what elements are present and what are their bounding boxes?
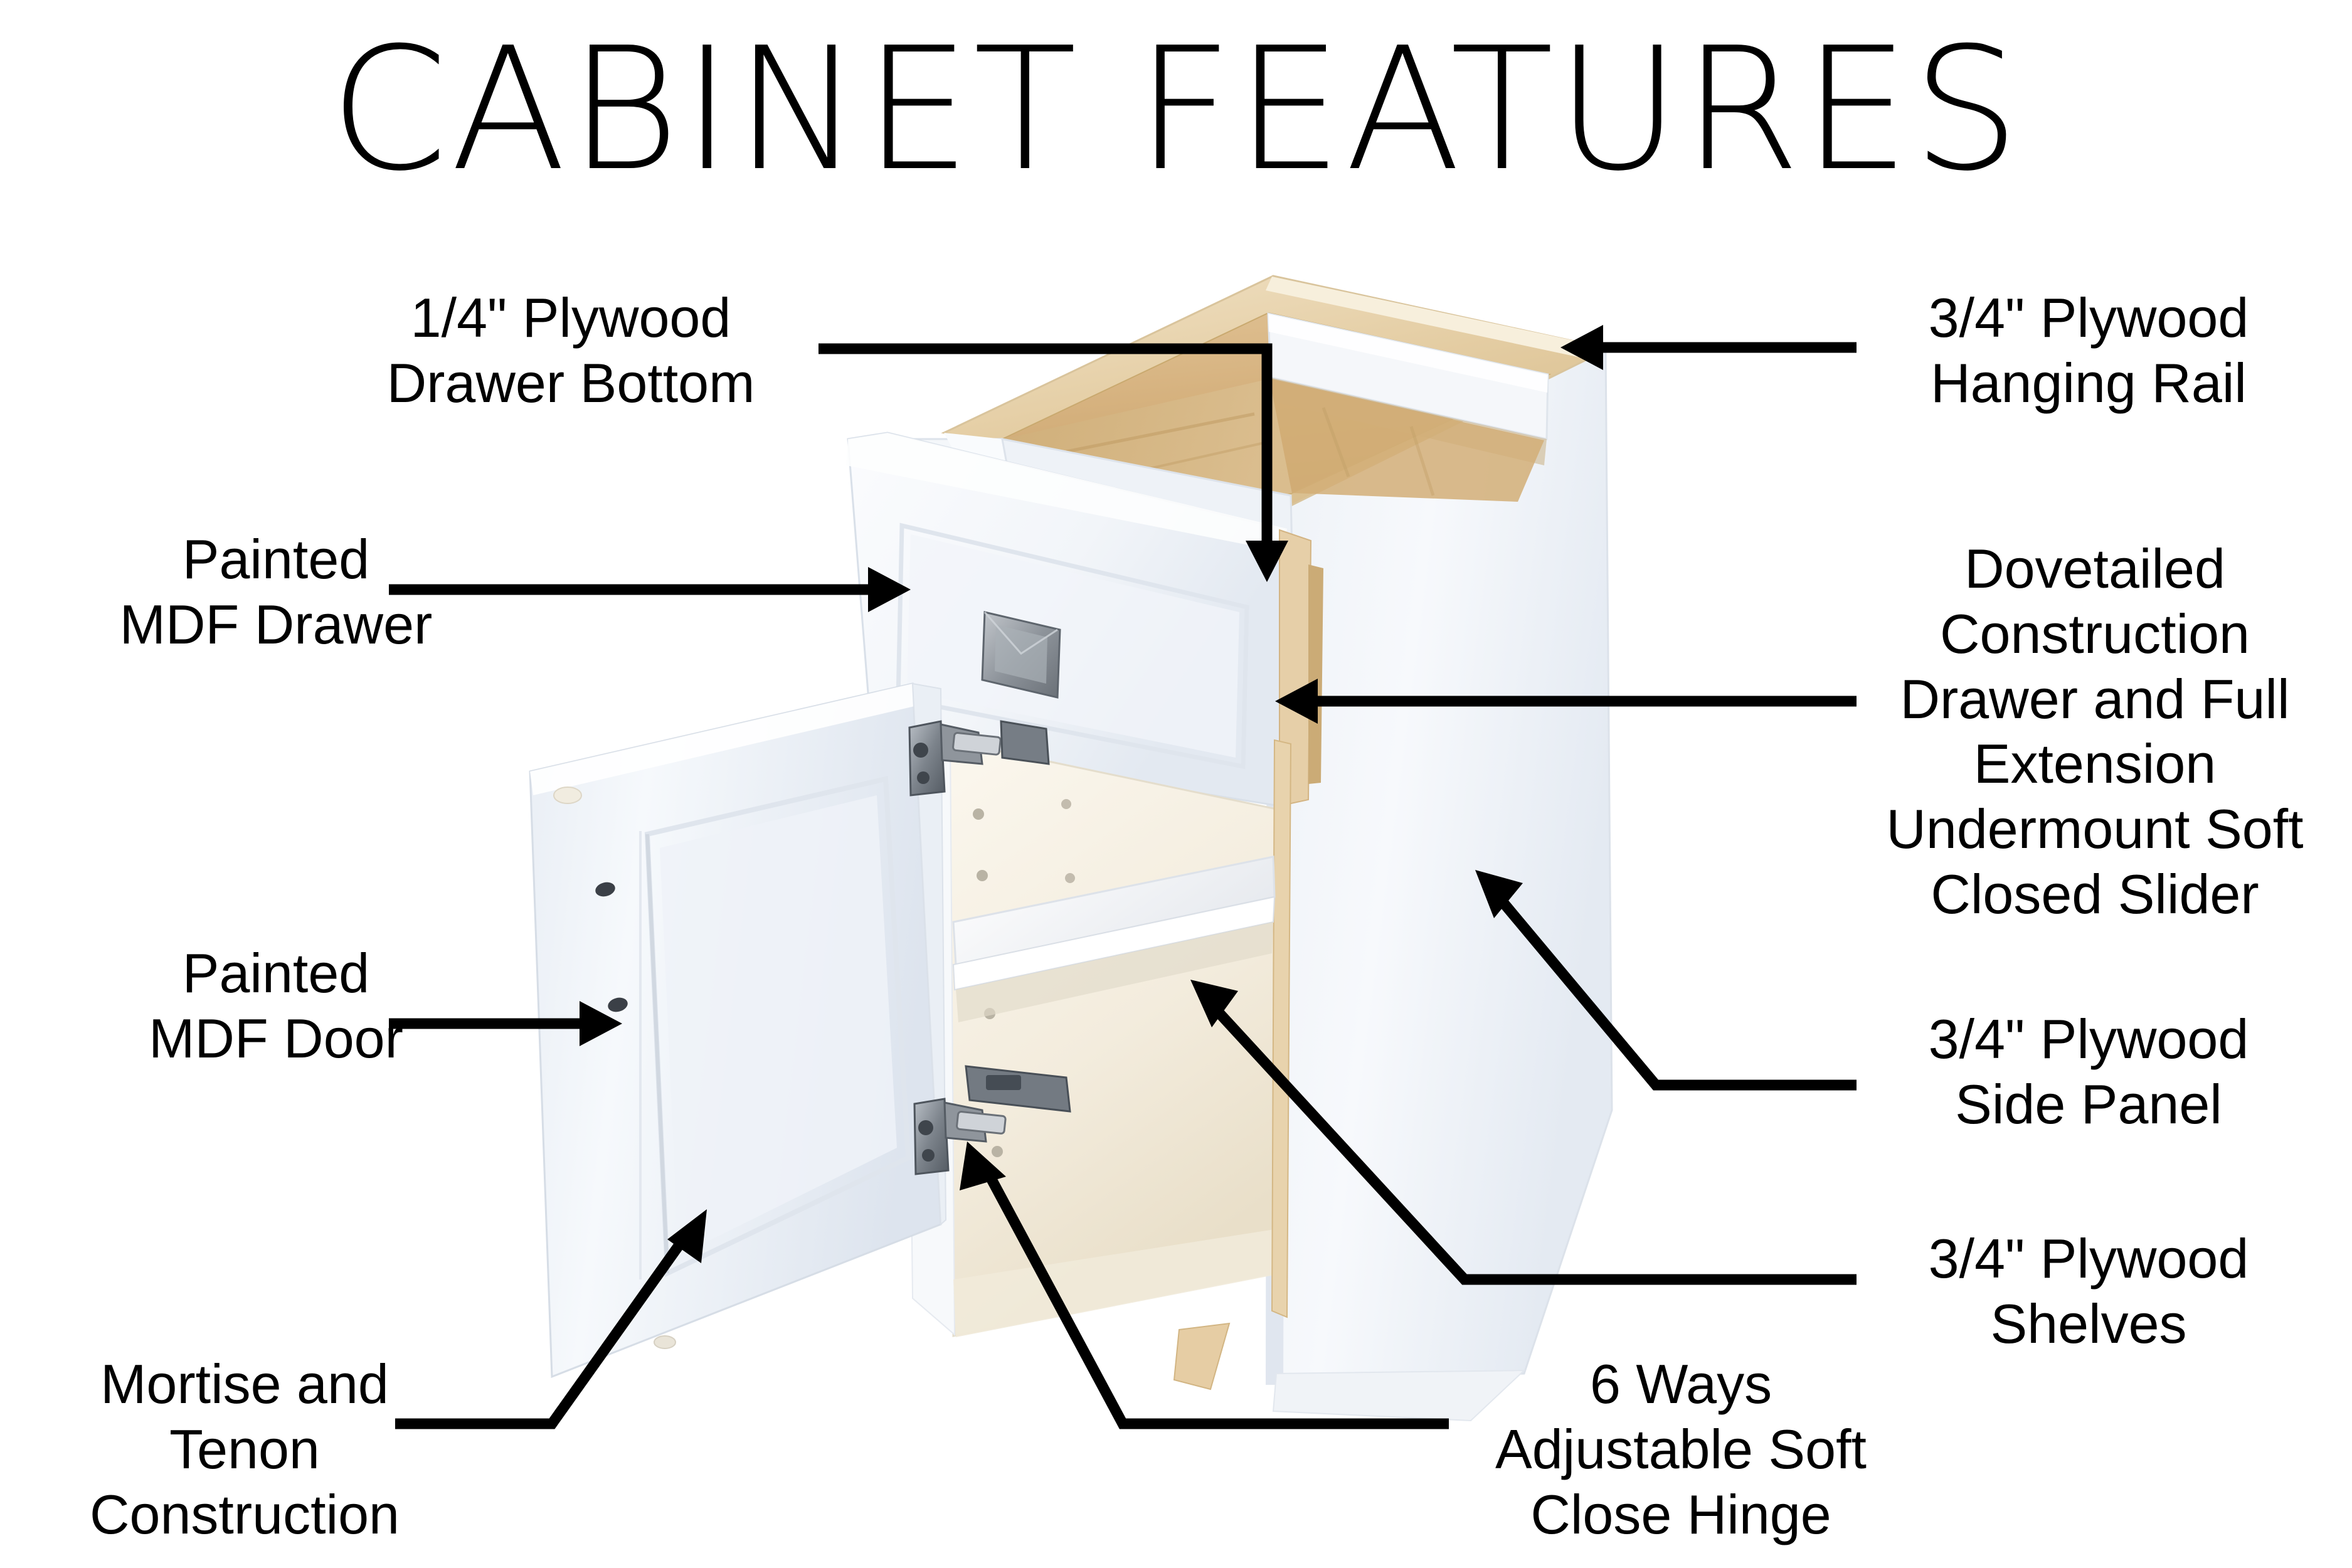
page-title: CABINET FEATURES <box>0 25 2352 194</box>
cabinet-toe-plywood <box>1174 1323 1229 1389</box>
callout-mdf-door: Painted MDF Door <box>63 941 489 1071</box>
callout-mdf-drawer: Painted MDF Drawer <box>63 527 489 657</box>
callout-dovetailed-construction: Dovetailed Construction Drawer and Full … <box>1857 536 2333 927</box>
cabinet-interior <box>906 721 1291 1337</box>
callout-mortise-and-tenon: Mortise and Tenon Construction <box>50 1352 439 1547</box>
callout-soft-close-hinge: 6 Ways Adjustable Soft Close Hinge <box>1455 1352 1907 1547</box>
callout-side-panel: 3/4" Plywood Side Panel <box>1863 1007 2314 1137</box>
infographic-page: CABINET FEATURES 1/4" Plywood Drawer Bot… <box>0 0 2352 1568</box>
cabinet-right-side-panel <box>1266 350 1612 1421</box>
callout-drawer-bottom: 1/4" Plywood Drawer Bottom <box>351 285 790 416</box>
callout-hanging-rail: 3/4" Plywood Hanging Rail <box>1863 285 2314 416</box>
callout-shelves: 3/4" Plywood Shelves <box>1863 1226 2314 1357</box>
cabinet-door <box>530 684 946 1377</box>
